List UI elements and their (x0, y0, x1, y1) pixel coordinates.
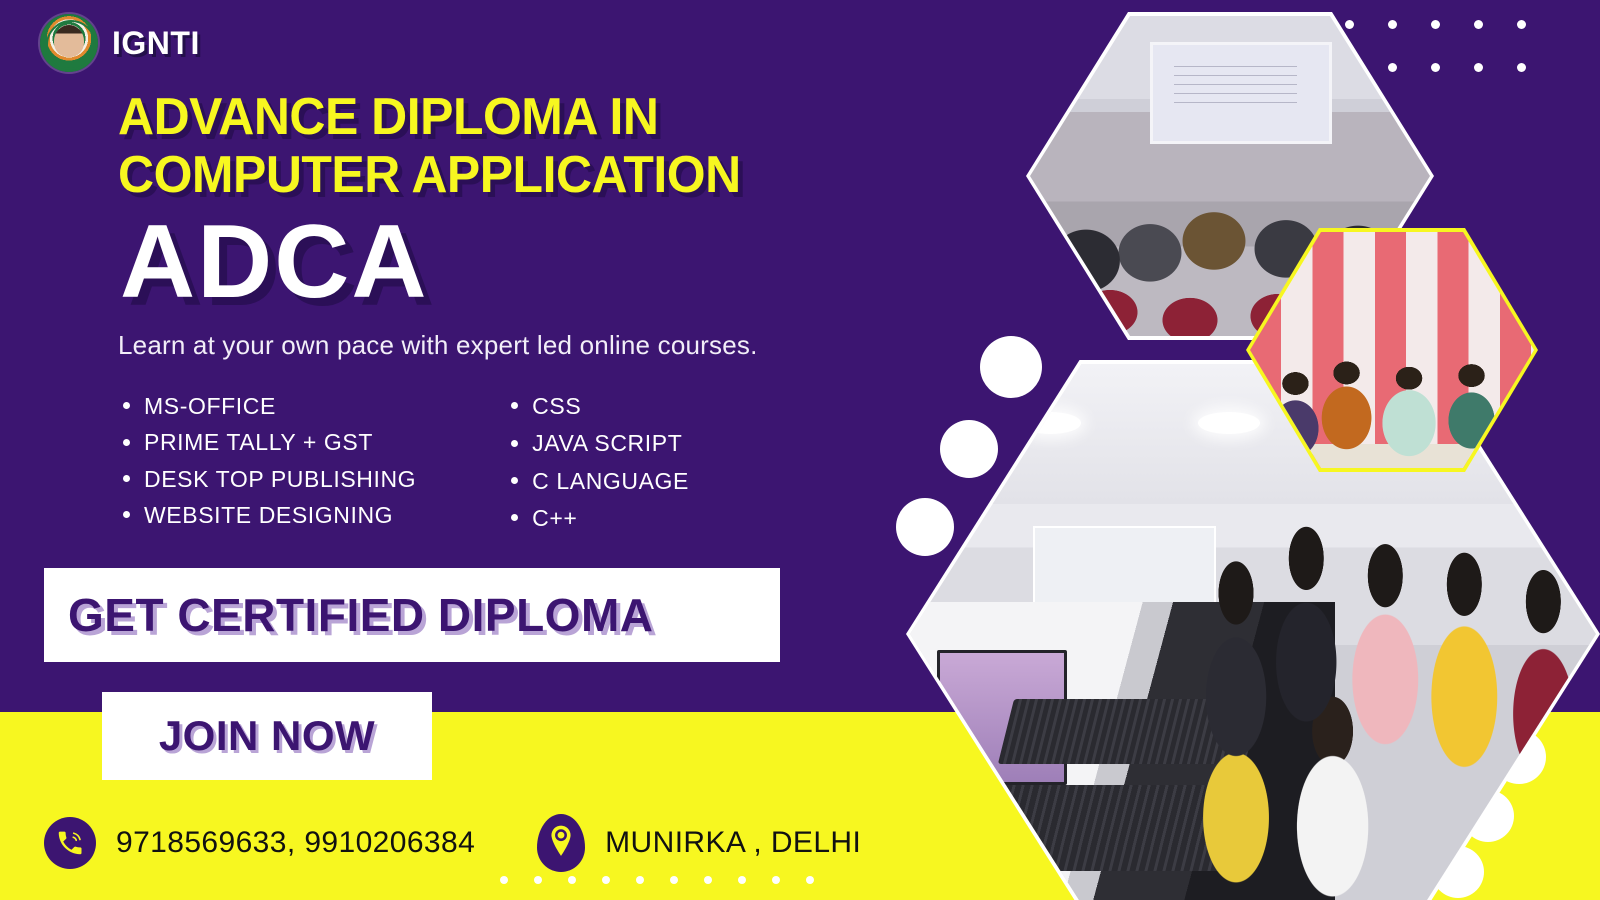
list-item: CSS (506, 388, 689, 425)
decor-dot (602, 876, 610, 884)
join-now-button[interactable]: JOIN NOW (102, 692, 432, 780)
decor-dot (1431, 63, 1440, 72)
decor-dot (636, 876, 644, 884)
phone-number: 9718569633, 9910206384 (116, 826, 475, 860)
decor-dot (1431, 20, 1440, 29)
footer-dot-decoration (500, 876, 814, 884)
promo-banner: IGNTI ADVANCE DIPLOMA IN COMPUTER APPLIC… (0, 0, 1600, 900)
decor-dot (704, 876, 712, 884)
whiteboard (1150, 42, 1332, 144)
decor-dot (1517, 63, 1526, 72)
decor-dot (670, 876, 678, 884)
course-acronym: ADCA (120, 210, 428, 314)
list-item: WEBSITE DESIGNING (118, 497, 416, 533)
decor-dot (1388, 63, 1397, 72)
cta-primary-label: GET CERTIFIED DIPLOMA (44, 588, 654, 642)
decor-dot (1345, 20, 1354, 29)
decor-dot (1474, 63, 1483, 72)
decor-dot (772, 876, 780, 884)
phone-call-icon (44, 817, 96, 869)
list-item: MS-OFFICE (118, 388, 416, 424)
decor-dot (1517, 20, 1526, 29)
map-pin-icon (537, 814, 585, 872)
headline-line-1: ADVANCE DIPLOMA IN (118, 88, 982, 146)
list-item: JAVA SCRIPT (506, 425, 689, 462)
list-item: C++ (506, 500, 689, 537)
contact-bar: 9718569633, 9910206384 MUNIRKA , DELHI (44, 814, 861, 872)
decor-dot (500, 876, 508, 884)
headline-line-2: COMPUTER APPLICATION (118, 146, 982, 204)
course-column-left: MS-OFFICE PRIME TALLY + GST DESK TOP PUB… (118, 388, 416, 537)
decor-dot (534, 876, 542, 884)
list-item: DESK TOP PUBLISHING (118, 461, 416, 497)
page-subtitle: Learn at your own pace with expert led o… (118, 330, 758, 361)
get-certified-diploma-button[interactable]: GET CERTIFIED DIPLOMA (44, 568, 780, 662)
course-list: MS-OFFICE PRIME TALLY + GST DESK TOP PUB… (118, 388, 689, 537)
decor-dot (1388, 20, 1397, 29)
location-text: MUNIRKA , DELHI (605, 826, 861, 860)
list-item: C LANGUAGE (506, 463, 689, 500)
decor-circle (980, 336, 1042, 398)
institute-emblem-icon (40, 14, 98, 72)
decor-circle (896, 498, 954, 556)
location-contact[interactable]: MUNIRKA , DELHI (537, 814, 861, 872)
phone-contact[interactable]: 9718569633, 9910206384 (44, 817, 475, 869)
brand-name: IGNTI (112, 25, 200, 62)
brand-logo: IGNTI (40, 14, 200, 72)
decor-circle (940, 420, 998, 478)
decor-dot (1474, 20, 1483, 29)
cta-secondary-label: JOIN NOW (159, 712, 375, 760)
list-item: PRIME TALLY + GST (118, 424, 416, 460)
decor-dot (568, 876, 576, 884)
course-column-right: CSS JAVA SCRIPT C LANGUAGE C++ (506, 388, 689, 537)
decor-dot (806, 876, 814, 884)
emblem-ring (46, 20, 96, 70)
decor-dot (738, 876, 746, 884)
page-title: ADVANCE DIPLOMA IN COMPUTER APPLICATION (118, 88, 1018, 204)
